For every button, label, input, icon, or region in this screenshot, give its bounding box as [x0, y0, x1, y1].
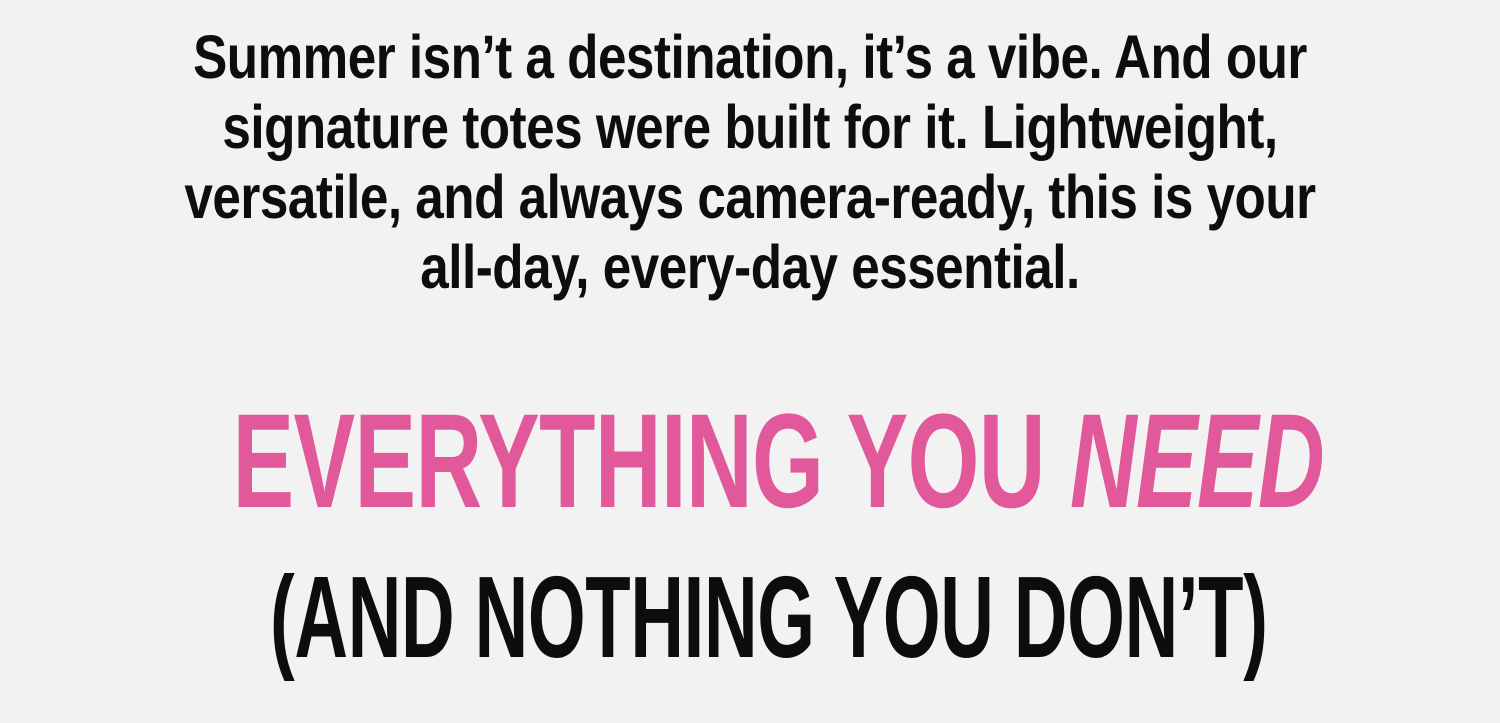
- intro-paragraph-line-1: Summer isn’t a destination, it’s a vibe.…: [120, 22, 1380, 92]
- headline: EVERYTHING YOU NEED (AND NOTHING YOU DON…: [0, 392, 1500, 680]
- headline-text-everything-you: EVERYTHING YOU: [233, 387, 1070, 536]
- promo-banner: Summer isn’t a destination, it’s a vibe.…: [0, 0, 1500, 723]
- headline-line-primary: EVERYTHING YOU NEED: [233, 392, 1268, 532]
- intro-paragraph: Summer isn’t a destination, it’s a vibe.…: [0, 22, 1500, 302]
- headline-text-need-emphasis: NEED: [1070, 387, 1324, 536]
- headline-line-secondary: (AND NOTHING YOU DON’T): [270, 554, 1230, 680]
- intro-paragraph-line-4: all-day, every-day essential.: [120, 232, 1380, 302]
- intro-paragraph-line-2: signature totes were built for it. Light…: [120, 92, 1380, 162]
- intro-paragraph-line-3: versatile, and always camera-ready, this…: [120, 162, 1380, 232]
